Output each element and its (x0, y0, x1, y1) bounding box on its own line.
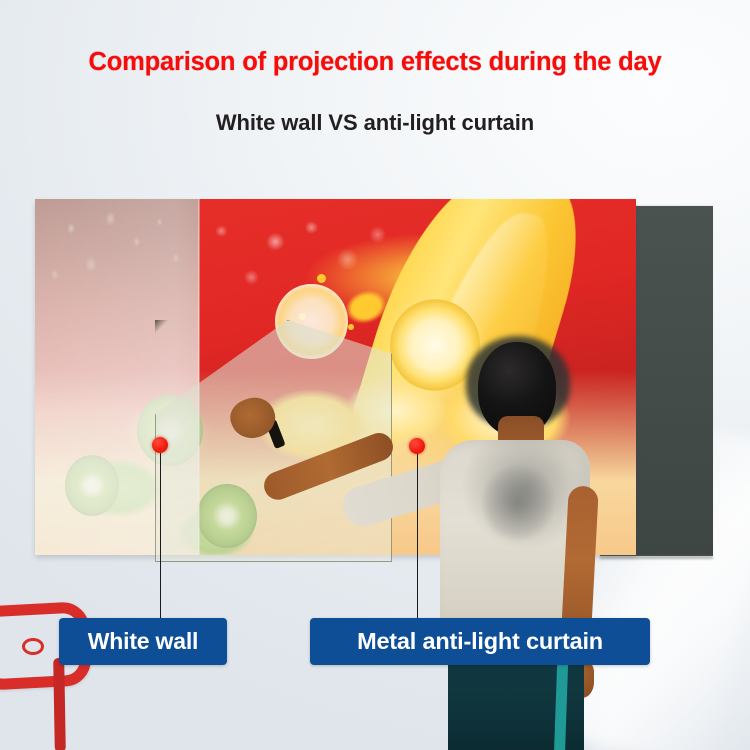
shirt-shadow (462, 456, 574, 568)
callout-dot-white-wall (152, 437, 168, 453)
chair-leg (53, 658, 66, 750)
chair-backrest-hole (22, 638, 44, 655)
juice-droplet (348, 324, 354, 330)
callout-dot-metal-curtain (409, 438, 425, 454)
juice-droplet (317, 274, 326, 283)
callout-label-metal-curtain[interactable]: Metal anti-light curtain (310, 618, 650, 665)
promo-image: Comparison of projection effects during … (0, 0, 750, 750)
page-subtitle: White wall VS anti-light curtain (0, 110, 750, 136)
page-title: Comparison of projection effects during … (0, 48, 750, 77)
callout-line-metal-curtain (417, 453, 419, 618)
white-wall-bubble-texture (35, 199, 199, 363)
callout-label-white-wall[interactable]: White wall (59, 618, 227, 665)
callout-line-white-wall (160, 452, 162, 618)
person-figure (416, 336, 602, 750)
